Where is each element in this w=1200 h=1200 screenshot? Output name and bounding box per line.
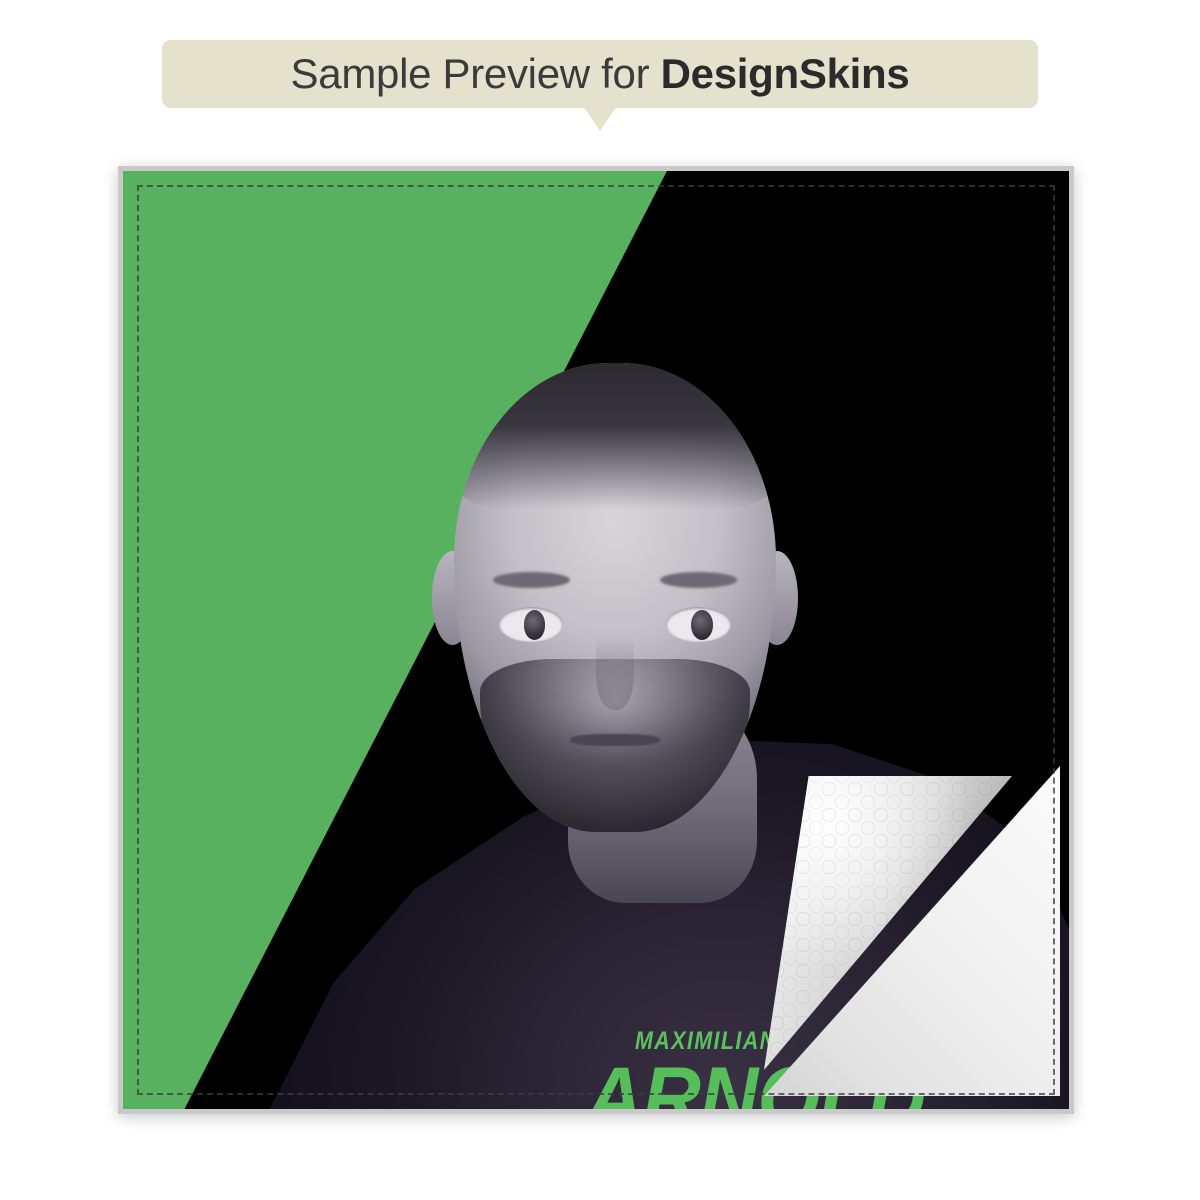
- player-face: [454, 363, 776, 832]
- banner-title: Sample Preview for DesignSkins: [291, 50, 910, 98]
- banner-tail-icon: [584, 107, 616, 131]
- banner-bubble: Sample Preview for DesignSkins: [162, 40, 1038, 108]
- product-preview-frame[interactable]: MAXIMILIAN ARNOLD: [118, 166, 1074, 1114]
- iris-left: [524, 610, 546, 640]
- eye-right: [666, 607, 730, 642]
- player-hair: [454, 363, 776, 508]
- eyebrow-left: [493, 572, 570, 588]
- eyebrow-right: [660, 572, 737, 588]
- player-portrait: [454, 363, 776, 832]
- preview-banner: Sample Preview for DesignSkins: [162, 40, 1038, 108]
- iris-right: [691, 610, 713, 640]
- eye-left: [499, 607, 563, 642]
- banner-brand-name: DesignSkins: [661, 50, 910, 97]
- banner-title-prefix: Sample Preview for: [291, 50, 661, 97]
- skin-artwork-canvas: MAXIMILIAN ARNOLD: [123, 171, 1069, 1109]
- mouth: [570, 734, 660, 746]
- peeling-corner: [764, 766, 1060, 1096]
